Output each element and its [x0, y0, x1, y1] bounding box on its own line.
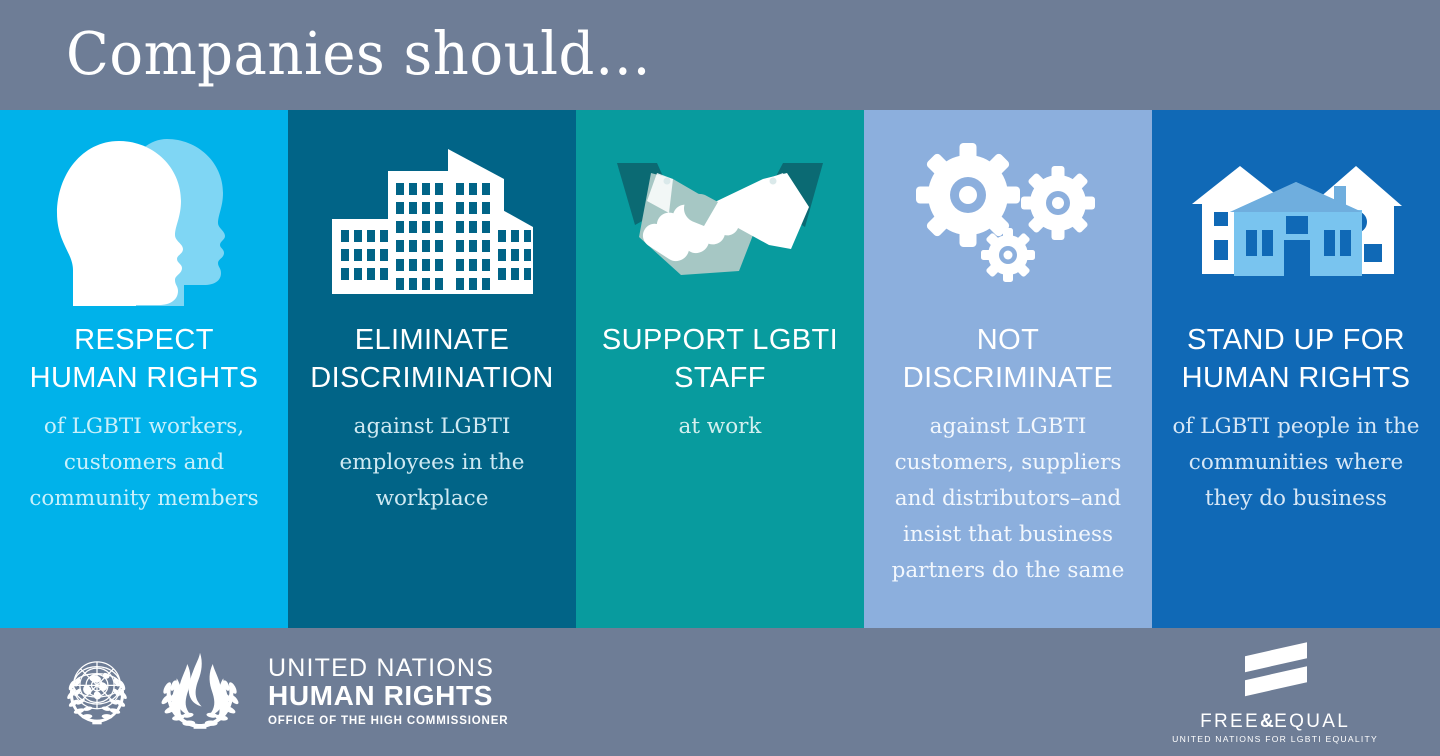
ohchr-wordmark: UNITED NATIONS HUMAN RIGHTS OFFICE OF TH… — [268, 655, 508, 729]
column-body: of LGBTI workers, customers and communit… — [10, 409, 278, 517]
column-respect-human-rights: RESPECT HUMAN RIGHTS of LGBTI workers, c… — [0, 110, 288, 628]
column-not-discriminate: NOT DISCRIMINATE against LGBTI customers… — [864, 110, 1152, 628]
three-houses-icon — [1162, 110, 1430, 326]
column-eliminate-discrimination: ELIMINATE DISCRIMINATION against LGBTI e… — [288, 110, 576, 628]
column-body: at work — [679, 409, 762, 445]
page-title: Companies should… — [0, 25, 651, 84]
column-heading: SUPPORT LGBTI STAFF — [602, 322, 838, 397]
free-and-equal-logo: FREE&EQUAL UNITED NATIONS FOR LGBTI EQUA… — [1172, 640, 1378, 744]
ohchr-line-human-rights: HUMAN RIGHTS — [268, 681, 508, 711]
free-text: FREE — [1200, 711, 1260, 732]
free-and-equal-wordmark: FREE&EQUAL — [1200, 712, 1350, 731]
poster-header: Companies should… — [0, 0, 1440, 110]
column-heading: ELIMINATE DISCRIMINATION — [310, 322, 554, 397]
column-support-lgbti-staff: SUPPORT LGBTI STAFF at work — [576, 110, 864, 628]
infographic-poster: Companies should… RESPECT HUMAN RIGHTS o… — [0, 0, 1440, 756]
three-gears-icon — [874, 110, 1142, 326]
two-head-profiles-icon — [10, 110, 278, 326]
un-emblem-icon — [58, 651, 136, 734]
ohchr-line-united-nations: UNITED NATIONS — [268, 655, 508, 681]
equals-sign-icon — [1231, 640, 1319, 703]
ampersand-text: & — [1260, 711, 1274, 732]
column-heading: STAND UP FOR HUMAN RIGHTS — [1182, 322, 1411, 397]
handshake-icon — [586, 110, 854, 326]
ohchr-flame-icon — [152, 648, 248, 737]
un-ohchr-logo-group: UNITED NATIONS HUMAN RIGHTS OFFICE OF TH… — [0, 648, 508, 737]
columns-row: RESPECT HUMAN RIGHTS of LGBTI workers, c… — [0, 110, 1440, 628]
column-heading: RESPECT HUMAN RIGHTS — [30, 322, 259, 397]
ohchr-line-office-high-commissioner: OFFICE OF THE HIGH COMMISSIONER — [268, 714, 508, 729]
poster-footer: UNITED NATIONS HUMAN RIGHTS OFFICE OF TH… — [0, 628, 1440, 756]
column-body: against LGBTI employees in the workplace — [298, 409, 566, 517]
column-body: against LGBTI customers, suppliers and d… — [874, 409, 1142, 588]
column-body: of LGBTI people in the communities where… — [1162, 409, 1430, 517]
equal-text: EQUAL — [1274, 711, 1350, 732]
column-heading: NOT DISCRIMINATE — [903, 322, 1114, 397]
column-stand-up-for-human-rights: STAND UP FOR HUMAN RIGHTS of LGBTI peopl… — [1152, 110, 1440, 628]
office-buildings-icon — [298, 110, 566, 326]
free-and-equal-tagline: UNITED NATIONS FOR LGBTI EQUALITY — [1172, 735, 1378, 744]
